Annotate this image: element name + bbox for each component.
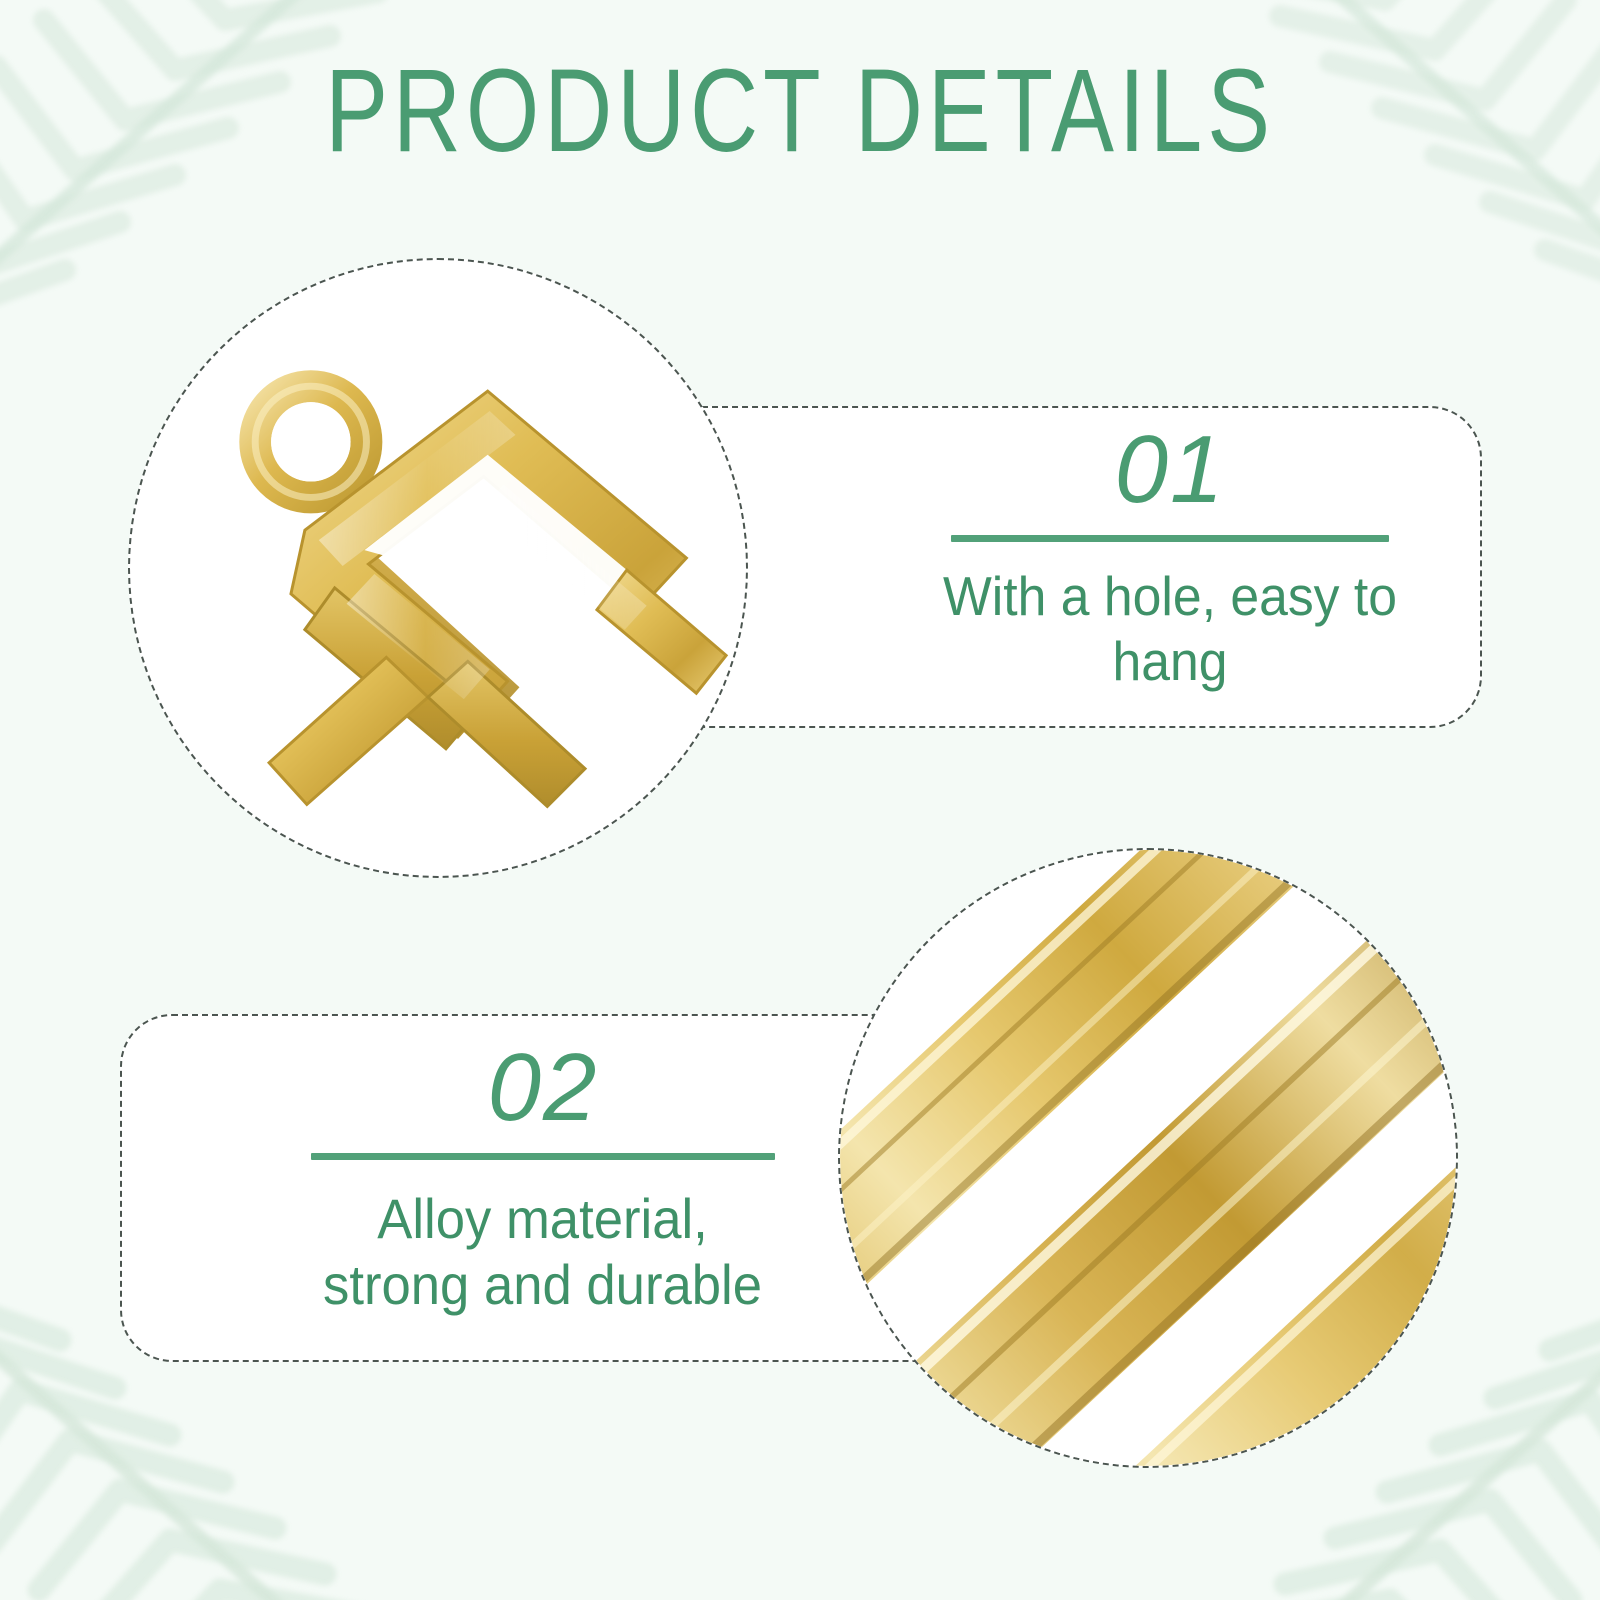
feature-caption-02: Alloy material, strong and durable [323,1186,762,1318]
feature-caption-01: With a hole, easy to hang [907,564,1433,694]
feature-card-01-body: 01 With a hole, easy to hang [890,420,1450,694]
feature-number-01: 01 [1115,420,1226,521]
feature-number-02: 02 [488,1038,599,1139]
feature-card-01: 01 With a hole, easy to hang [620,406,1482,728]
gold-charm-with-hanging-loop-photo [128,258,748,878]
gold-alloy-bars-macro-photo [838,848,1458,1468]
feature-divider-02 [311,1153,775,1160]
page-title: PRODUCT DETAILS [160,52,1440,170]
product-details-infographic: PRODUCT DETAILS 01 With a hole, easy to … [0,0,1600,1600]
photo-02-inner [840,850,1456,1466]
feature-divider-01 [951,535,1389,542]
feature-card-02-body: 02 Alloy material, strong and durable [252,1038,834,1318]
photo-01-inner [130,260,746,876]
